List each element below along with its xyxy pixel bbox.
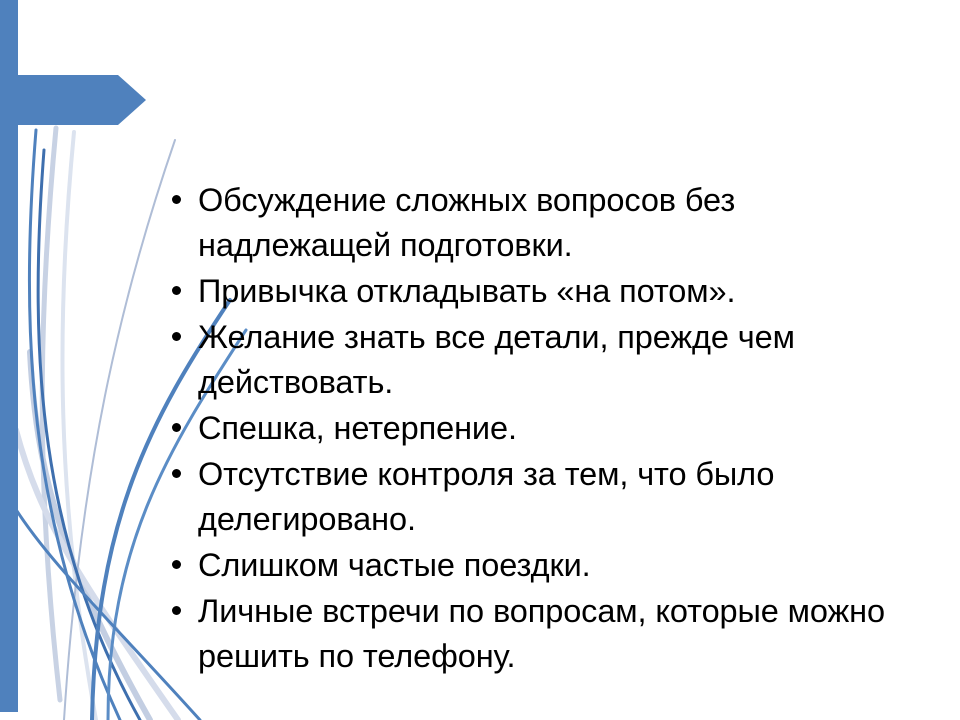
list-item-text: Спешка, нетерпение. (198, 406, 892, 451)
list-item-text: Привычка откладывать «на потом». (198, 269, 892, 314)
curve-blue-2 (38, 150, 140, 720)
list-item: Личные встречи по вопросам, которые можн… (162, 589, 892, 679)
curve-light-4 (16, 430, 178, 720)
list-item: Спешка, нетерпение. (162, 406, 892, 451)
bullet-dot-icon (172, 195, 181, 204)
bullet-dot-icon (172, 332, 181, 341)
list-item: Обсуждение сложных вопросов без надлежащ… (162, 178, 892, 268)
slide-canvas: Обсуждение сложных вопросов без надлежащ… (0, 0, 960, 720)
list-item-text: Отсутствие контроля за тем, что было дел… (198, 452, 892, 542)
bullet-dot-icon (172, 469, 181, 478)
curve-blue-1 (29, 130, 120, 720)
list-item-text: Личные встречи по вопросам, которые можн… (198, 589, 892, 679)
curve-light-2 (62, 132, 96, 720)
list-item-text: Обсуждение сложных вопросов без надлежащ… (198, 178, 892, 268)
curve-light-3 (30, 352, 150, 720)
bullet-dot-icon (172, 606, 181, 615)
list-item: Привычка откладывать «на потом». (162, 269, 892, 314)
bullet-list: Обсуждение сложных вопросов без надлежащ… (162, 178, 892, 679)
right-arrow-banner (0, 75, 146, 125)
list-item-text: Желание знать все детали, прежде чем дей… (198, 315, 892, 405)
bullet-dot-icon (172, 286, 181, 295)
list-item: Желание знать все детали, прежде чем дей… (162, 315, 892, 405)
decorative-curve-group-light (16, 128, 178, 720)
left-vertical-bar (0, 0, 18, 712)
bullet-dot-icon (172, 423, 181, 432)
bullet-dot-icon (172, 560, 181, 569)
list-item: Отсутствие контроля за тем, что было дел… (162, 452, 892, 542)
curve-light-1 (42, 128, 60, 700)
content-placeholder: Обсуждение сложных вопросов без надлежащ… (162, 178, 892, 680)
list-item: Слишком частые поездки. (162, 543, 892, 588)
list-item-text: Слишком частые поездки. (198, 543, 892, 588)
curve-light-5 (64, 140, 175, 720)
